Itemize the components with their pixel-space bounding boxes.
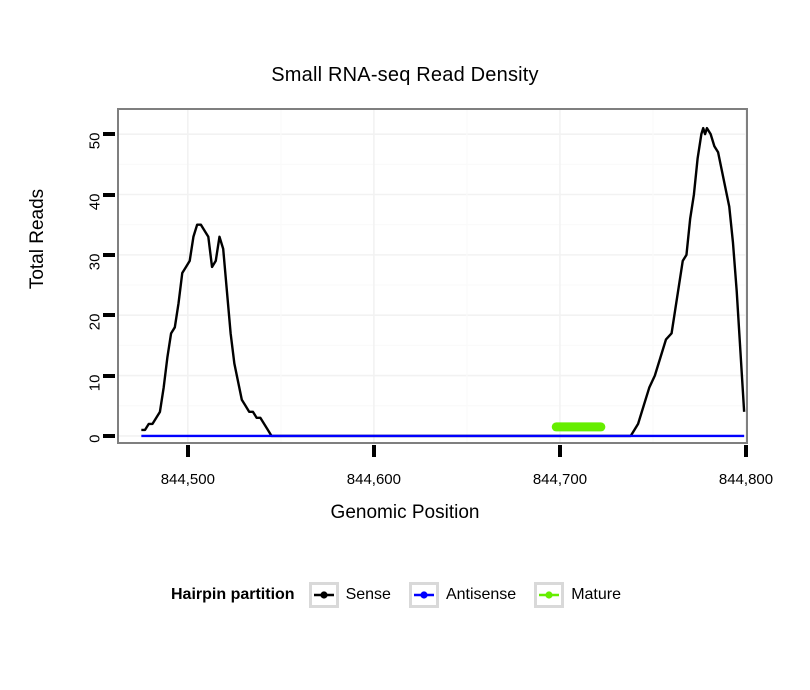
x-tick-label: 844,700 bbox=[500, 471, 620, 488]
gridlines bbox=[119, 110, 746, 442]
x-tick-mark bbox=[744, 445, 748, 457]
legend-label: Sense bbox=[346, 586, 391, 604]
y-tick-mark bbox=[103, 193, 115, 197]
legend-title: Hairpin partition bbox=[171, 586, 295, 604]
x-tick-mark bbox=[372, 445, 376, 457]
legend-label: Antisense bbox=[446, 586, 516, 604]
line-dot-icon bbox=[409, 582, 439, 608]
y-tick-mark bbox=[103, 374, 115, 378]
data-series-layer bbox=[141, 128, 744, 436]
x-axis-label: Genomic Position bbox=[0, 502, 810, 524]
legend-item-mature[interactable]: Mature bbox=[534, 582, 627, 608]
x-tick-mark bbox=[558, 445, 562, 457]
x-tick-label: 844,800 bbox=[686, 471, 806, 488]
y-tick-mark bbox=[103, 253, 115, 257]
line-dot-icon bbox=[534, 582, 564, 608]
chart-title: Small RNA-seq Read Density bbox=[0, 64, 810, 87]
y-tick-mark bbox=[103, 434, 115, 438]
legend-item-sense[interactable]: Sense bbox=[309, 582, 397, 608]
x-tick-mark bbox=[186, 445, 190, 457]
legend-items: SenseAntisenseMature bbox=[309, 582, 639, 608]
legend-label: Mature bbox=[571, 586, 621, 604]
y-axis-label: Total Reads bbox=[27, 139, 49, 339]
y-tick-label: 50 bbox=[87, 133, 104, 221]
legend-item-antisense[interactable]: Antisense bbox=[409, 582, 522, 608]
plot-area bbox=[119, 110, 746, 442]
y-tick-mark bbox=[103, 132, 115, 136]
line-dot-icon bbox=[309, 582, 339, 608]
chart-figure: Small RNA-seq Read Density Total Reads 0… bbox=[0, 0, 810, 690]
chart-legend: Hairpin partition SenseAntisenseMature bbox=[0, 582, 810, 608]
x-tick-label: 844,500 bbox=[128, 471, 248, 488]
series-sense bbox=[141, 128, 744, 436]
plot-panel bbox=[117, 108, 748, 444]
x-tick-label: 844,600 bbox=[314, 471, 434, 488]
y-tick-mark bbox=[103, 313, 115, 317]
